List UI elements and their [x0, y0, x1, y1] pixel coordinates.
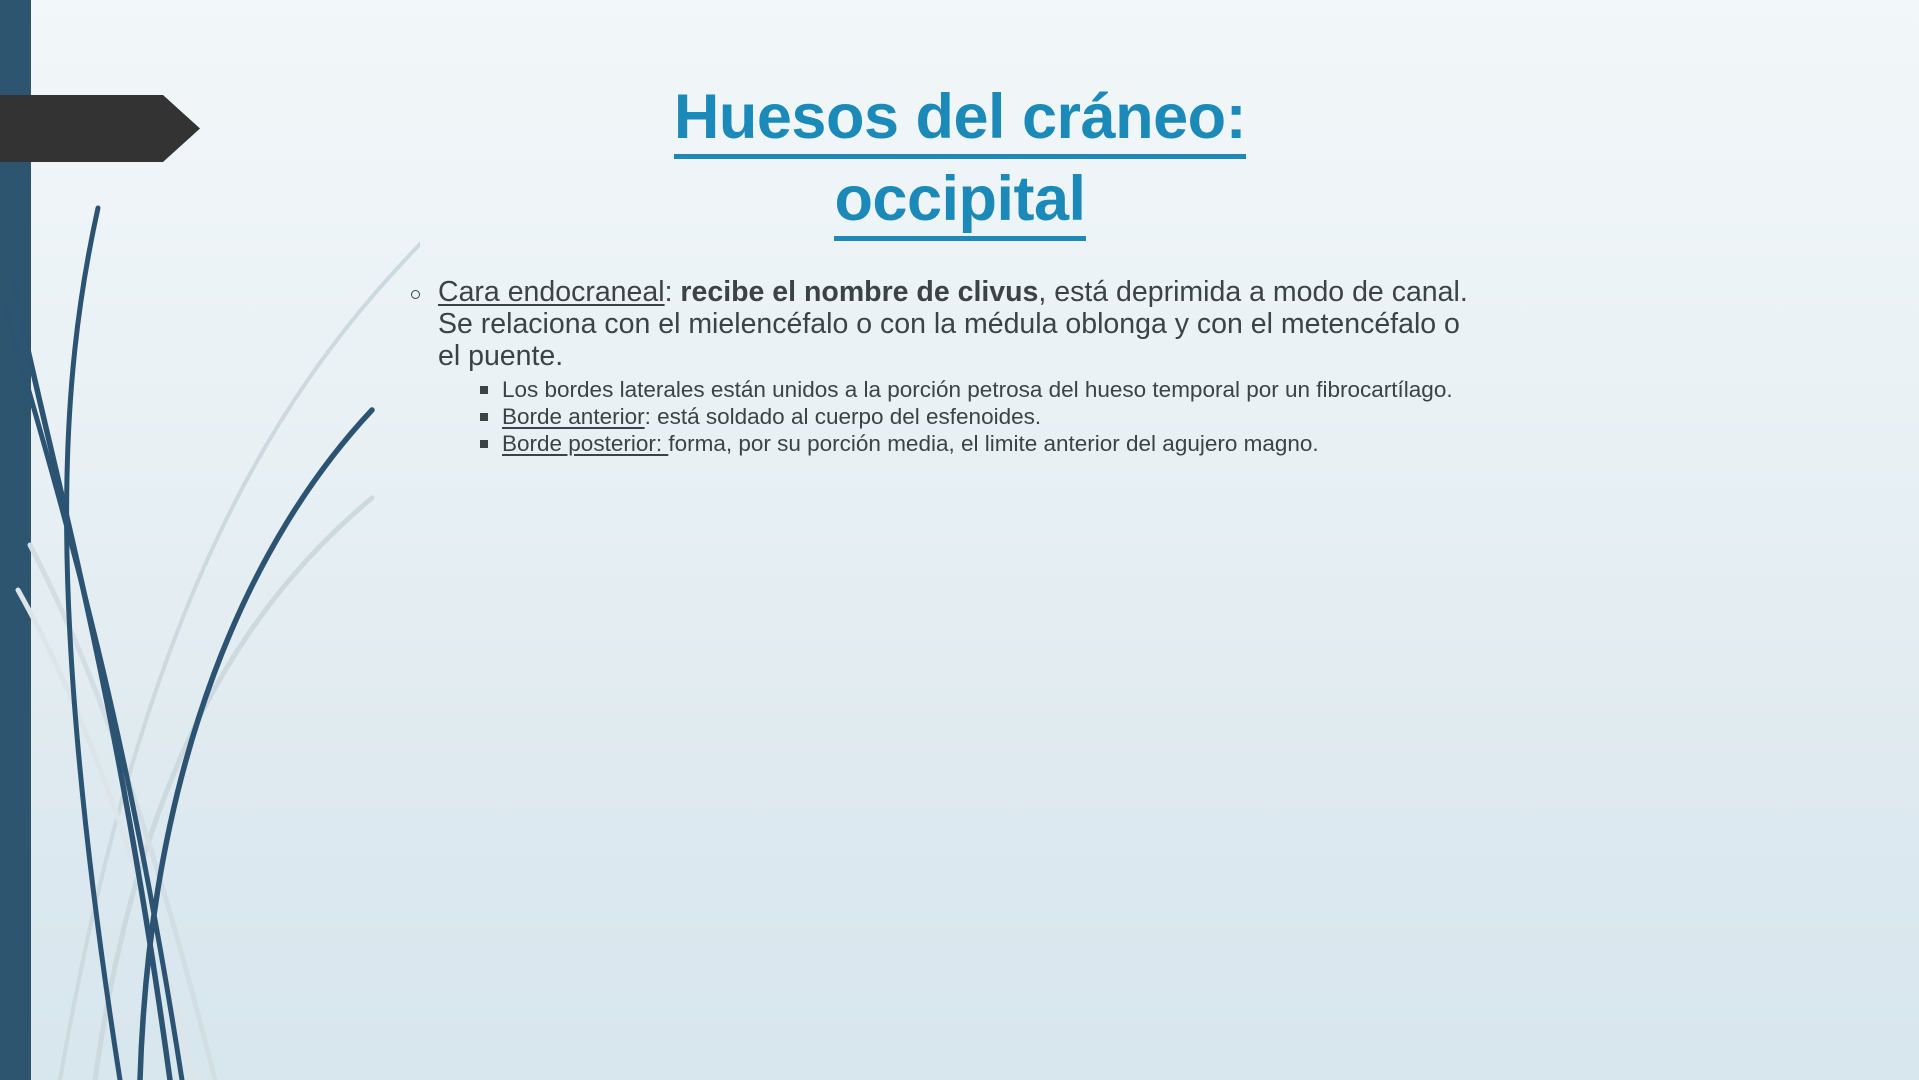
sub-bullet-text: forma, por su porción media, el limite a… [668, 431, 1318, 456]
sub-bullet-label-underlined: Borde anterior [502, 404, 645, 429]
bullet-segment-underlined: Cara endocraneal [438, 276, 665, 308]
sub-bullet-text: : está soldado al cuerpo del esfenoides. [645, 404, 1042, 429]
sub-bullet-text: Los bordes laterales están unidos a la p… [502, 377, 1453, 402]
bullet-list-level-1: Cara endocraneal: recibe el nombre de cl… [398, 276, 1478, 457]
slide-body: Cara endocraneal: recibe el nombre de cl… [398, 276, 1478, 457]
bullet-segment-bold: recibe el nombre de clivus [680, 276, 1038, 308]
slide-title-line-2: occipital [834, 164, 1085, 241]
banner-arrow-shape [0, 95, 200, 162]
sub-bullet-item-borde-posterior: Borde posterior: forma, por su porción m… [473, 430, 1478, 457]
slide-title-line-1: Huesos del cráneo: [674, 82, 1246, 159]
presentation-slide: Huesos del cráneo: occipital Cara endocr… [0, 0, 1919, 1080]
bullet-text: Cara endocraneal: recibe el nombre de cl… [438, 276, 1468, 372]
bullet-item-cara-endocraneal: Cara endocraneal: recibe el nombre de cl… [398, 276, 1478, 457]
bullet-list-level-2: Los bordes laterales están unidos a la p… [438, 376, 1478, 457]
sub-bullet-label-underlined: Borde posterior: [502, 431, 668, 456]
left-accent-bar [0, 0, 31, 1080]
bullet-segment-colon: : [665, 276, 681, 308]
sub-bullet-item-bordes-laterales: Los bordes laterales están unidos a la p… [473, 376, 1478, 403]
slide-title: Huesos del cráneo: occipital [300, 82, 1620, 241]
sub-bullet-item-borde-anterior: Borde anterior: está soldado al cuerpo d… [473, 403, 1478, 430]
